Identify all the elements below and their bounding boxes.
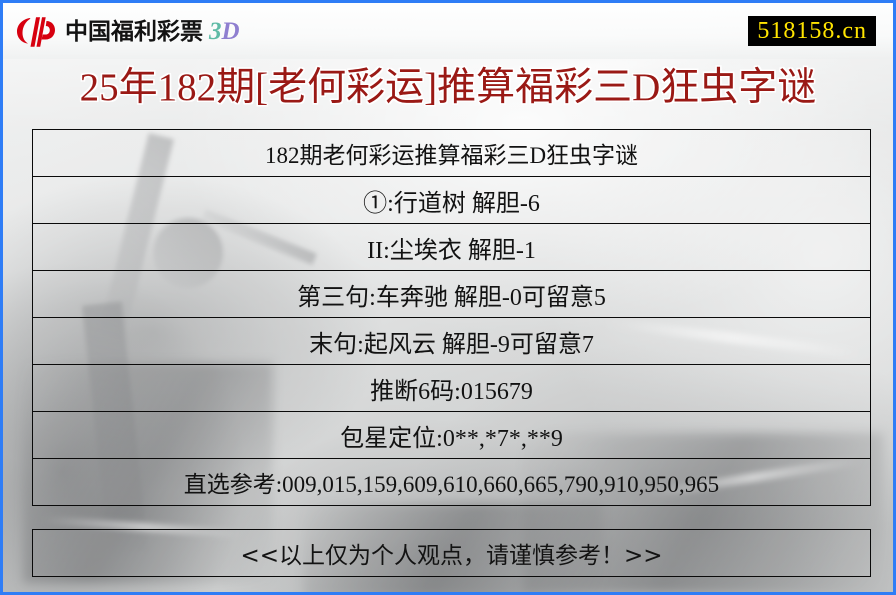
disclaimer-text: <<以上仅为个人观点，请谨慎参考！>> (33, 530, 871, 577)
table-cell-six-codes: 推断6码:015679 (33, 365, 871, 412)
table-cell-line-1: ①:行道树 解胆-6 (33, 177, 871, 224)
table-cell-line-4: 末句:起风云 解胆-9可留意7 (33, 318, 871, 365)
table-row: II:尘埃衣 解胆-1 (33, 224, 871, 271)
prediction-table: 182期老何彩运推算福彩三D狂虫字谜 ①:行道树 解胆-6 II:尘埃衣 解胆-… (32, 129, 871, 506)
table-cell-direct-reference: 直选参考:009,015,159,609,610,660,665,790,910… (33, 459, 871, 506)
brand-d-label: D (222, 18, 240, 46)
table-row: 直选参考:009,015,159,609,610,660,665,790,910… (33, 459, 871, 506)
table-row: 推断6码:015679 (33, 365, 871, 412)
table-row: 包星定位:0**,*7*,**9 (33, 412, 871, 459)
table-row: 末句:起风云 解胆-9可留意7 (33, 318, 871, 365)
table-row: ①:行道树 解胆-6 (33, 177, 871, 224)
site-watermark: 518158.cn (748, 16, 876, 46)
table-cell-line-2: II:尘埃衣 解胆-1 (33, 224, 871, 271)
brand-text: 中国福利彩票 (65, 21, 203, 44)
table-row: <<以上仅为个人观点，请谨慎参考！>> (33, 530, 871, 577)
table-row: 182期老何彩运推算福彩三D狂虫字谜 (33, 130, 871, 177)
brand-3-label: 3 (209, 18, 222, 46)
lottery-image-canvas: 中国福利彩票 3 D 518158.cn 25年182期[老何彩运]推算福彩三D… (0, 0, 896, 595)
page-title: 25年182期[老何彩运]推算福彩三D狂虫字谜 (3, 63, 893, 113)
china-welfare-lottery-emblem-icon (16, 16, 56, 48)
table-cell-heading: 182期老何彩运推算福彩三D狂虫字谜 (33, 130, 871, 177)
brand-logo: 中国福利彩票 3 D (16, 15, 240, 49)
disclaimer-table: <<以上仅为个人观点，请谨慎参考！>> (32, 529, 871, 577)
table-cell-position-pick: 包星定位:0**,*7*,**9 (33, 412, 871, 459)
table-row: 第三句:车奔驰 解胆-0可留意5 (33, 271, 871, 318)
table-cell-line-3: 第三句:车奔驰 解胆-0可留意5 (33, 271, 871, 318)
